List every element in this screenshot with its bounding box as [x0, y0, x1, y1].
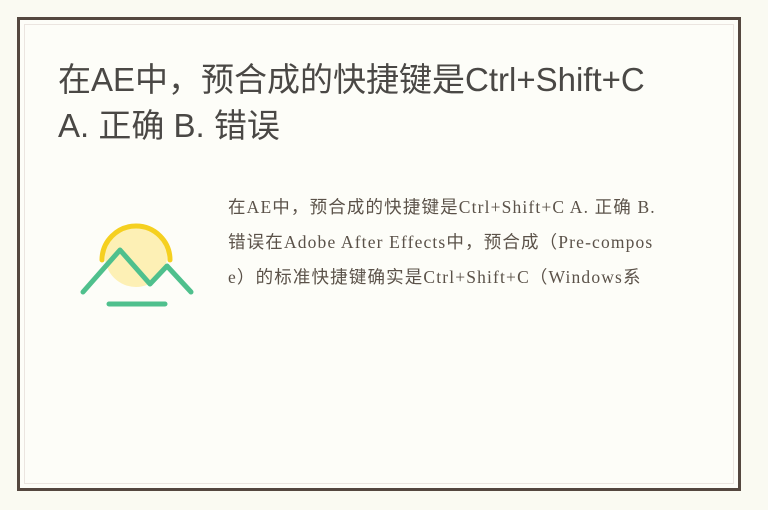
page-title: 在AE中，预合成的快捷键是Ctrl+Shift+C A. 正确 B. 错误	[58, 57, 678, 149]
sunrise-mountain-icon	[71, 198, 201, 316]
page-root: 在AE中，预合成的快捷键是Ctrl+Shift+C A. 正确 B. 错误 在A…	[0, 0, 768, 510]
article-body-text: 在AE中，预合成的快捷键是Ctrl+Shift+C A. 正确 B. 错误在Ad…	[228, 190, 656, 295]
article-body-area: 在AE中，预合成的快捷键是Ctrl+Shift+C A. 正确 B. 错误在Ad…	[24, 190, 734, 484]
card-content: 在AE中，预合成的快捷键是Ctrl+Shift+C A. 正确 B. 错误 在A…	[24, 24, 734, 484]
